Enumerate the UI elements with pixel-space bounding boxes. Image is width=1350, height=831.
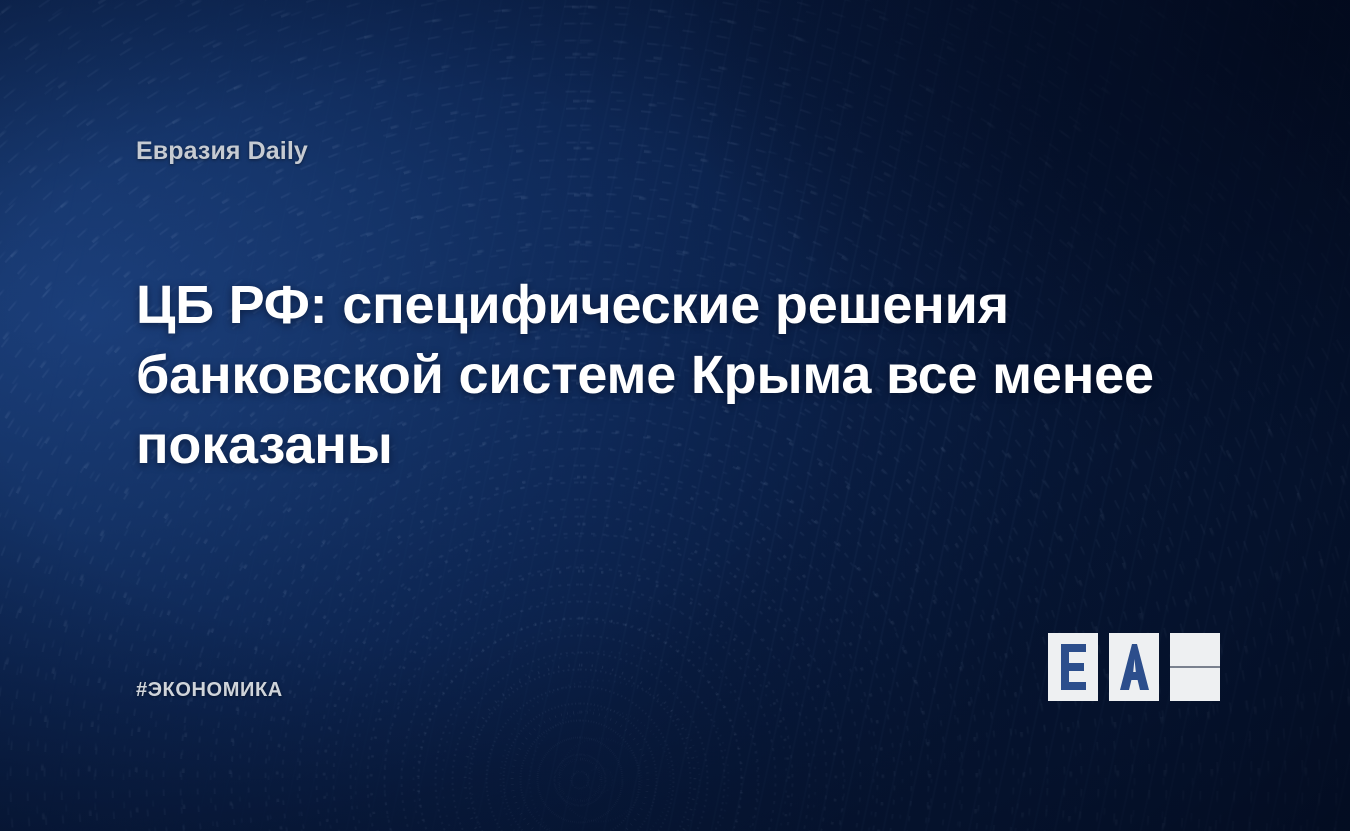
logo-tile-d-top bbox=[1170, 633, 1220, 667]
logo-tile-d-bottom bbox=[1170, 668, 1220, 702]
logo-tile-a bbox=[1109, 633, 1159, 701]
eadaily-logo[interactable] bbox=[1047, 632, 1222, 702]
share-card: Евразия Daily ЦБ РФ: специфические решен… bbox=[0, 0, 1350, 831]
category-tag[interactable]: #ЭКОНОМИКА bbox=[136, 679, 283, 702]
logo-letter-e bbox=[1061, 644, 1086, 690]
brand-name: Евразия Daily bbox=[136, 137, 308, 166]
card-content: Евразия Daily ЦБ РФ: специфические решен… bbox=[0, 0, 1350, 831]
page-title: ЦБ РФ: специфические решения банковской … bbox=[136, 270, 1206, 480]
eadaily-logo-mark bbox=[1047, 632, 1222, 702]
